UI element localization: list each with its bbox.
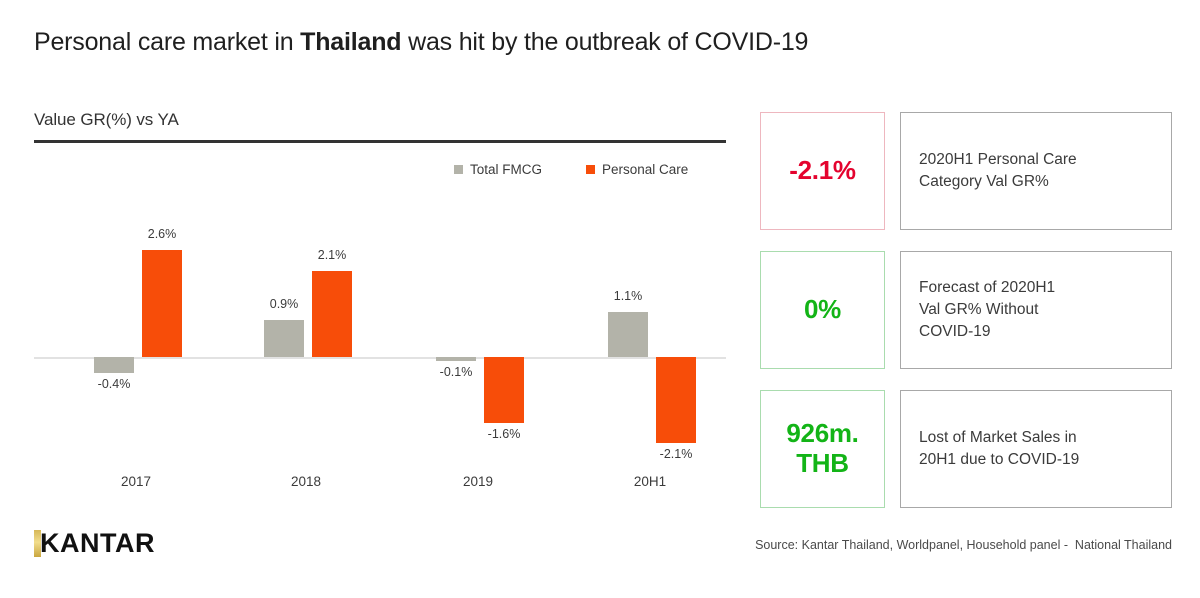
kpi-description-box: Forecast of 2020H1 Val GR% Without COVID… <box>900 251 1172 369</box>
chart-panel: Value GR(%) vs YA Total FMCG Personal Ca… <box>34 104 734 514</box>
kpi-card-stack: -2.1% 2020H1 Personal Care Category Val … <box>760 112 1172 508</box>
kpi-value-box: 0% <box>760 251 885 369</box>
kpi-description: Lost of Market Sales in 20H1 due to COVI… <box>919 427 1079 471</box>
kpi-value: -2.1% <box>789 156 855 186</box>
kpi-description: 2020H1 Personal Care Category Val GR% <box>919 149 1077 193</box>
chart-subtitle: Value GR(%) vs YA <box>34 110 179 130</box>
kpi-value-box: 926m. THB <box>760 390 885 508</box>
title-text-after: was hit by the outbreak of COVID-19 <box>401 28 808 56</box>
legend-label-total-fmcg: Total FMCG <box>470 162 542 177</box>
x-tick-20h1: 20H1 <box>570 474 730 489</box>
x-axis: 2017 2018 2019 20H1 <box>34 474 726 498</box>
chart-legend: Total FMCG Personal Care <box>454 162 688 177</box>
slide-canvas: Personal care market in Thailand was hit… <box>0 0 1200 598</box>
bar-value-label: 1.1% <box>584 289 672 303</box>
bar-rect <box>94 357 134 373</box>
bar-rect <box>312 271 352 357</box>
bar-value-label: -2.1% <box>632 447 720 461</box>
x-tick-2017: 2017 <box>56 474 216 489</box>
bar-rect <box>656 357 696 443</box>
kpi-value: 926m. THB <box>786 419 858 479</box>
bar-rect <box>264 320 304 357</box>
x-tick-2018: 2018 <box>226 474 386 489</box>
title-text-before: Personal care market in <box>34 28 300 56</box>
bar-rect <box>608 312 648 357</box>
bar-group-2017: -0.4% 2.6% <box>56 214 216 464</box>
legend-label-personal-care: Personal Care <box>602 162 688 177</box>
bar-rect <box>484 357 524 423</box>
legend-swatch-icon-total-fmcg <box>454 165 463 174</box>
bar-value-label: 2.6% <box>118 227 206 241</box>
kpi-card-lost-market-sales: 926m. THB Lost of Market Sales in 20H1 d… <box>760 390 1172 508</box>
kpi-value: 0% <box>804 295 841 325</box>
bar-rect <box>142 250 182 357</box>
kpi-description-box: 2020H1 Personal Care Category Val GR% <box>900 112 1172 230</box>
legend-item-personal-care: Personal Care <box>586 162 688 177</box>
title-highlight: Thailand <box>300 28 401 56</box>
page-title: Personal care market in Thailand was hit… <box>34 28 808 57</box>
chart-divider-rule <box>34 140 726 143</box>
bar-chart-plot: -0.4% 2.6% 0.9% 2.1% <box>34 214 726 464</box>
kantar-logo: KANTAR <box>34 528 155 559</box>
logo-wordmark: KANTAR <box>40 528 155 559</box>
bar-value-label: 2.1% <box>288 248 376 262</box>
bar-value-label: -1.6% <box>460 427 548 441</box>
kpi-card-forecast-without-covid: 0% Forecast of 2020H1 Val GR% Without CO… <box>760 251 1172 369</box>
bar-rect <box>436 357 476 361</box>
x-tick-2019: 2019 <box>398 474 558 489</box>
bar-group-2019: -0.1% -1.6% <box>398 214 558 464</box>
bar-group-2018: 0.9% 2.1% <box>226 214 386 464</box>
legend-item-total-fmcg: Total FMCG <box>454 162 542 177</box>
bar-value-label: -0.4% <box>70 377 158 391</box>
bar-group-20h1: 1.1% -2.1% <box>570 214 730 464</box>
kpi-description-box: Lost of Market Sales in 20H1 due to COVI… <box>900 390 1172 508</box>
kpi-value-box: -2.1% <box>760 112 885 230</box>
kpi-description: Forecast of 2020H1 Val GR% Without COVID… <box>919 277 1055 343</box>
kpi-card-personal-care-gr: -2.1% 2020H1 Personal Care Category Val … <box>760 112 1172 230</box>
legend-swatch-icon-personal-care <box>586 165 595 174</box>
source-note: Source: Kantar Thailand, Worldpanel, Hou… <box>755 538 1172 552</box>
